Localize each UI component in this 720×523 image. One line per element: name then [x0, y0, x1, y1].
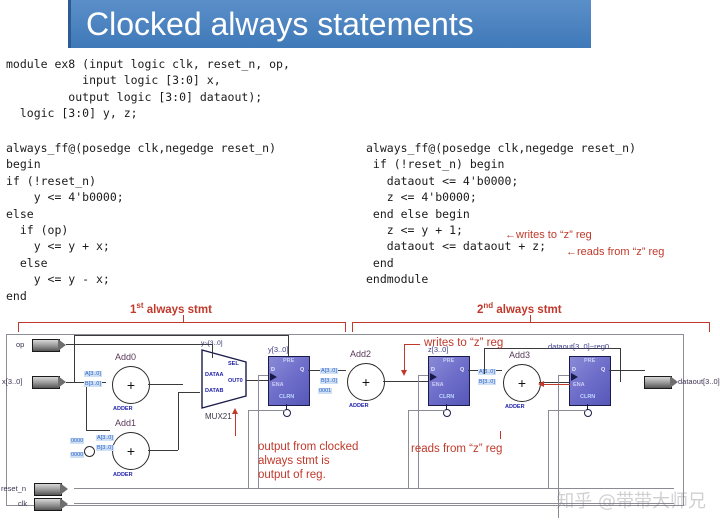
input-pin-x[interactable] [32, 376, 60, 389]
pin-label-reset-n: reset_n [1, 484, 26, 493]
wire-clk-to-y-reg-stub [258, 375, 268, 376]
adder2-port-b: B[3..0] [320, 378, 338, 384]
wire-reset-to-y-reg-stub [248, 410, 286, 411]
register-z-clock-triangle [430, 373, 437, 381]
register-y-pre: PRE [283, 358, 294, 364]
note-reads-arrow-line [542, 384, 570, 385]
adder-name-add1: Add1 [115, 418, 136, 428]
mux21-kind: MUX21 [205, 412, 232, 421]
adder3-port-a: A[3..0] [478, 369, 496, 375]
adder2-port-a: A[3..0] [320, 368, 338, 374]
wire-clk-to-dataout-reg-stub [558, 375, 569, 376]
note-writes-leader-v [404, 344, 405, 371]
diagram-note-reads-from-z: reads from “z” reg [411, 442, 502, 456]
adder2-kind: ADDER [349, 403, 369, 409]
wire-clk-to-z-reg-stub [418, 375, 428, 376]
adder1-const-a: 0000 [70, 438, 84, 444]
register-z-ena: ENA [432, 382, 444, 388]
wire-op-to-sel [212, 344, 213, 358]
diagram-note-output-of-reg: output from clocked always stmt is outpu… [258, 440, 358, 482]
adder1-const-b: 0000 [70, 452, 84, 458]
register-z-d: D [431, 367, 435, 373]
input-pin-clk[interactable] [34, 498, 62, 511]
pin-label-op: op [16, 340, 24, 349]
note-writes-arrowhead [401, 370, 407, 376]
input-pin-reset-n[interactable] [34, 483, 62, 496]
adder1-kind: ADDER [113, 472, 133, 478]
watermark: 知乎 @带带大师兄 [556, 487, 706, 513]
wire-mux-datab-in [178, 392, 200, 393]
register-z-q: Q [460, 367, 464, 373]
mux21-port-dataa: DATAA [205, 372, 223, 378]
input-pin-op[interactable] [32, 339, 60, 352]
adder0-port-b: B[3..0] [84, 381, 102, 387]
adder-add1[interactable]: + [112, 432, 150, 470]
register-dataout-ena: ENA [573, 382, 585, 388]
adder-add0[interactable]: + [112, 366, 150, 404]
note-writes-leader-h [404, 344, 420, 345]
output-pin-dataout[interactable] [644, 376, 672, 389]
register-dataout-clock-triangle [571, 373, 578, 381]
adder0-kind: ADDER [113, 406, 133, 412]
code-annotation-writes-to-z: ←writes to “z” reg [505, 229, 592, 241]
adder2-const-b: 0001 [318, 388, 332, 394]
adder1-port-a: A[3..0] [96, 435, 114, 441]
code-second-always-block: always_ff@(posedge clk,negedge reset_n) … [366, 140, 636, 288]
register-z-clrn: CLRN [439, 394, 454, 400]
register-y-ena: ENA [272, 382, 284, 388]
note-reads-arrowhead [538, 381, 544, 387]
wire-y-feedback-left-drop [74, 335, 75, 383]
label-second-always-stmt: 2nd always stmt [477, 301, 562, 316]
register-y-clrn: CLRN [279, 394, 294, 400]
wire-clk-to-z-reg [418, 375, 419, 488]
note-output-leader-v [235, 414, 236, 436]
register-label-dataout: dataout[3..0]~reg0 [548, 342, 609, 351]
label-second-sup: nd [483, 301, 493, 310]
wire-x-to-add1-a [86, 430, 110, 431]
code-first-always-block: always_ff@(posedge clk,negedge reset_n) … [6, 140, 276, 304]
wire-add0-out [148, 384, 183, 385]
wire-op-to-mux-sel [66, 344, 212, 345]
label-first-sup: st [136, 301, 143, 310]
adder3-port-b: B[3..0] [478, 379, 496, 385]
adder-add2[interactable]: + [347, 363, 385, 401]
mux21-port-sel: SEL [228, 361, 239, 367]
register-y-q: Q [300, 367, 304, 373]
code-module-header: module ex8 (input logic clk, reset_n, op… [6, 56, 290, 122]
adder1-junction-bubble [84, 446, 95, 457]
wire-reset-to-z-reg [408, 410, 409, 488]
adder1-port-b: B[3..0] [96, 445, 114, 451]
register-y-d: D [271, 367, 275, 373]
wire-add1-to-mux-datab [178, 392, 179, 450]
wire-dataout-q-out [609, 370, 645, 371]
wire-reset-to-dataout-reg-stub [548, 410, 587, 411]
mux21-port-out0: OUT0 [228, 378, 243, 384]
label-first-suffix: always stmt [144, 304, 212, 316]
register-y-clock-triangle [270, 373, 277, 381]
label-second-suffix: always stmt [493, 304, 561, 316]
adder0-port-a: A[3..0] [84, 371, 102, 377]
pin-label-x: x[3..0] [2, 377, 22, 386]
register-dataout-d: D [572, 367, 576, 373]
wire-reset-to-z-reg-stub [408, 410, 446, 411]
register-label-y: y[3..0] [268, 345, 288, 354]
wire-reset-to-dataout-reg [548, 410, 549, 488]
adder-add3[interactable]: + [503, 364, 541, 402]
label-first-always-stmt: 1st always stmt [130, 301, 212, 316]
register-dataout-q: Q [601, 367, 605, 373]
register-z-pre: PRE [443, 358, 454, 364]
register-dataout-clrn: CLRN [580, 394, 595, 400]
mux21-port-datab: DATAB [205, 388, 223, 394]
note-output-arrowhead [232, 408, 238, 414]
note-reads-leader-v [500, 431, 501, 439]
wire-x-drop-to-add1 [86, 382, 87, 430]
adder-name-add0: Add0 [115, 352, 136, 362]
wire-reset-to-y-reg [248, 410, 249, 488]
wire-add1-out [148, 450, 178, 451]
page-title: Clocked always statements [86, 2, 586, 46]
register-dataout-pre: PRE [584, 358, 595, 364]
pin-label-clk: clk [18, 499, 27, 508]
adder-name-add3: Add3 [509, 350, 530, 360]
adder3-kind: ADDER [505, 404, 525, 410]
wire-dataout-feedback-left [484, 348, 485, 374]
code-annotation-reads-from-z: ←reads from “z” reg [566, 246, 664, 258]
adder-name-add2: Add2 [350, 349, 371, 359]
wire-y-feedback-top [74, 335, 288, 336]
wire-dataout-feedback-right [620, 348, 621, 382]
pin-label-dataout: dataout[3..0] [678, 377, 720, 386]
diagram-note-writes-to-z: writes to “z” reg [424, 336, 503, 350]
wire-add2-out [383, 381, 428, 382]
wire-mux-out [246, 380, 268, 381]
